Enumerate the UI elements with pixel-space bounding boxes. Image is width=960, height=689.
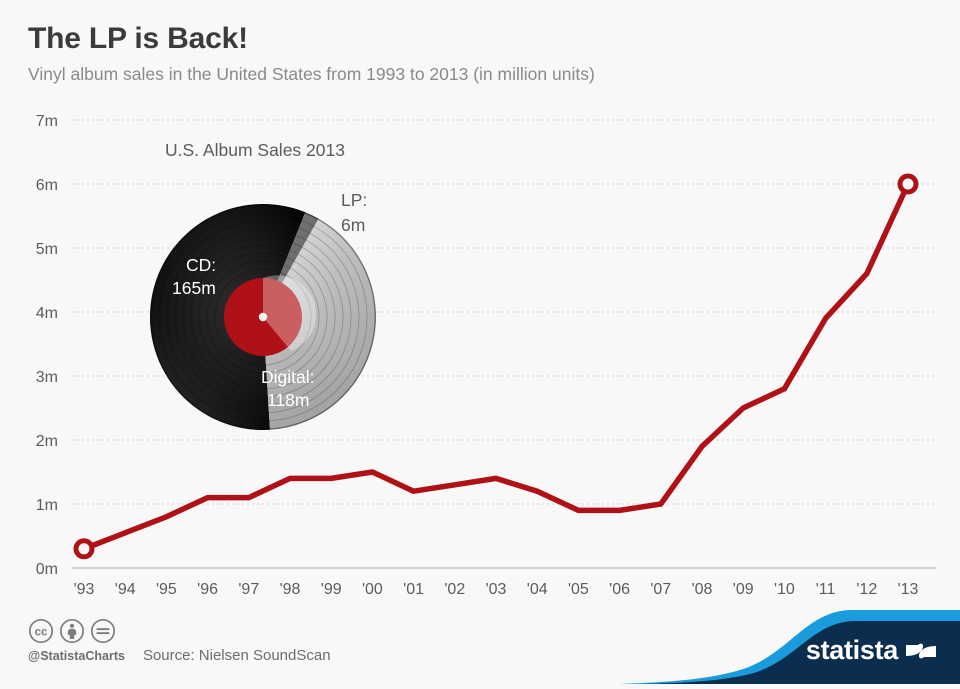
statista-handle: @StatistaCharts [28, 649, 125, 663]
x-axis-tick-label: '94 [115, 581, 136, 598]
y-axis-tick-label: 1m [36, 497, 58, 514]
statista-logo: statista [620, 610, 960, 684]
record-groove [183, 237, 343, 397]
y-axis-tick-label: 5m [36, 241, 58, 258]
x-axis-tick-label: '97 [238, 581, 259, 598]
x-axis-tick-label: '07 [650, 581, 671, 598]
pie-label-cd-value: 165m [172, 278, 216, 298]
x-axis-tick-label: '11 [816, 581, 836, 598]
x-axis-tick-label: '02 [444, 581, 465, 598]
y-axis-tick-label: 0m [36, 561, 58, 578]
chart-area: 0m1m2m3m4m5m6m7m '93'94'95'96'97'98'99'0… [0, 0, 960, 684]
x-axis-tick-label: '99 [321, 581, 342, 598]
y-axis-tick-label: 7m [36, 113, 58, 130]
source-note: Source: Nielsen SoundScan [143, 647, 331, 664]
vinyl-sales-line [84, 184, 908, 549]
page-title: The LP is Back! [28, 20, 928, 58]
y-axis-tick-label: 6m [36, 177, 58, 194]
record-spindle-hole [259, 313, 267, 321]
x-axis-tick-label: '00 [362, 581, 383, 598]
cc-icon: cc [28, 618, 54, 644]
statista-wordmark-group: statista [806, 635, 936, 666]
record-groove [215, 269, 311, 365]
x-axis-tick-label: '08 [692, 581, 713, 598]
statista-wordmark-text: statista [806, 635, 898, 666]
line-chart-svg: 0m1m2m3m4m5m6m7m '93'94'95'96'97'98'99'0… [0, 0, 960, 684]
pie-slice-digital [263, 219, 376, 430]
statista-logo-mark-icon [906, 637, 936, 665]
x-axis-tick-label: '12 [856, 581, 877, 598]
x-axis-tick-label: '03 [486, 581, 507, 598]
record-groove [207, 261, 319, 373]
pie-slice-cd [150, 204, 305, 430]
record-sheen [150, 204, 376, 430]
pie-label-digital-name: Digital: [261, 367, 315, 387]
svg-text:cc: cc [35, 627, 48, 639]
record-center-label [224, 278, 302, 356]
record-grooves [151, 205, 376, 430]
x-axis-tick-label: '13 [898, 581, 919, 598]
y-axis-tick-label: 4m [36, 305, 58, 322]
x-axis-tick-label: '98 [280, 581, 301, 598]
pie-label-lp-value: 6m [341, 215, 365, 235]
record-groove [167, 221, 359, 413]
x-axis-tick-label: '96 [197, 581, 218, 598]
cc-nd-equals-icon [90, 618, 116, 644]
x-axis-tick-label: '05 [568, 581, 589, 598]
y-axis-tick-label: 2m [36, 433, 58, 450]
y-axis-labels: 0m1m2m3m4m5m6m7m [36, 113, 58, 578]
x-axis-tick-label: '04 [527, 581, 548, 598]
header: The LP is Back! Vinyl album sales in the… [28, 20, 928, 86]
record-rim [151, 205, 376, 430]
cc-by-person-icon [59, 618, 85, 644]
infographic-canvas: The LP is Back! Vinyl album sales in the… [0, 0, 960, 684]
record-groove [199, 253, 327, 381]
data-point-marker-2013 [900, 176, 916, 192]
page-subtitle: Vinyl album sales in the United States f… [28, 62, 928, 86]
y-axis-tick-label: 3m [36, 369, 58, 386]
x-axis-tick-label: '93 [74, 581, 95, 598]
record-groove [191, 245, 335, 389]
pie-label-cd-name: CD: [186, 255, 216, 275]
record-groove [175, 229, 351, 405]
x-axis-tick-label: '09 [733, 581, 754, 598]
vinyl-record-pie: CD: 165m Digital: 118m LP: 6m [150, 190, 376, 430]
footer-left: cc @StatistaCharts Source: Nielsen Sound… [28, 618, 331, 664]
gridlines-group [72, 120, 936, 504]
record-groove [151, 205, 375, 429]
x-axis-tick-label: '10 [774, 581, 795, 598]
pie-label-digital-value: 118m [267, 390, 309, 410]
pie-inset-title: U.S. Album Sales 2013 [165, 140, 345, 161]
creative-commons-icons: cc [28, 618, 331, 644]
data-point-marker-1993 [76, 541, 92, 557]
record-groove [159, 213, 367, 421]
record-center-highlight [263, 275, 316, 351]
pie-label-lp-name: LP: [341, 190, 367, 210]
x-axis-tick-label: '06 [609, 581, 630, 598]
x-axis-tick-label: '95 [156, 581, 177, 598]
x-axis-tick-label: '01 [403, 581, 424, 598]
pie-slice-lp [263, 212, 319, 317]
footer-text-row: @StatistaCharts Source: Nielsen SoundSca… [28, 647, 331, 664]
x-axis-labels: '93'94'95'96'97'98'99'00'01'02'03'04'05'… [74, 581, 919, 598]
